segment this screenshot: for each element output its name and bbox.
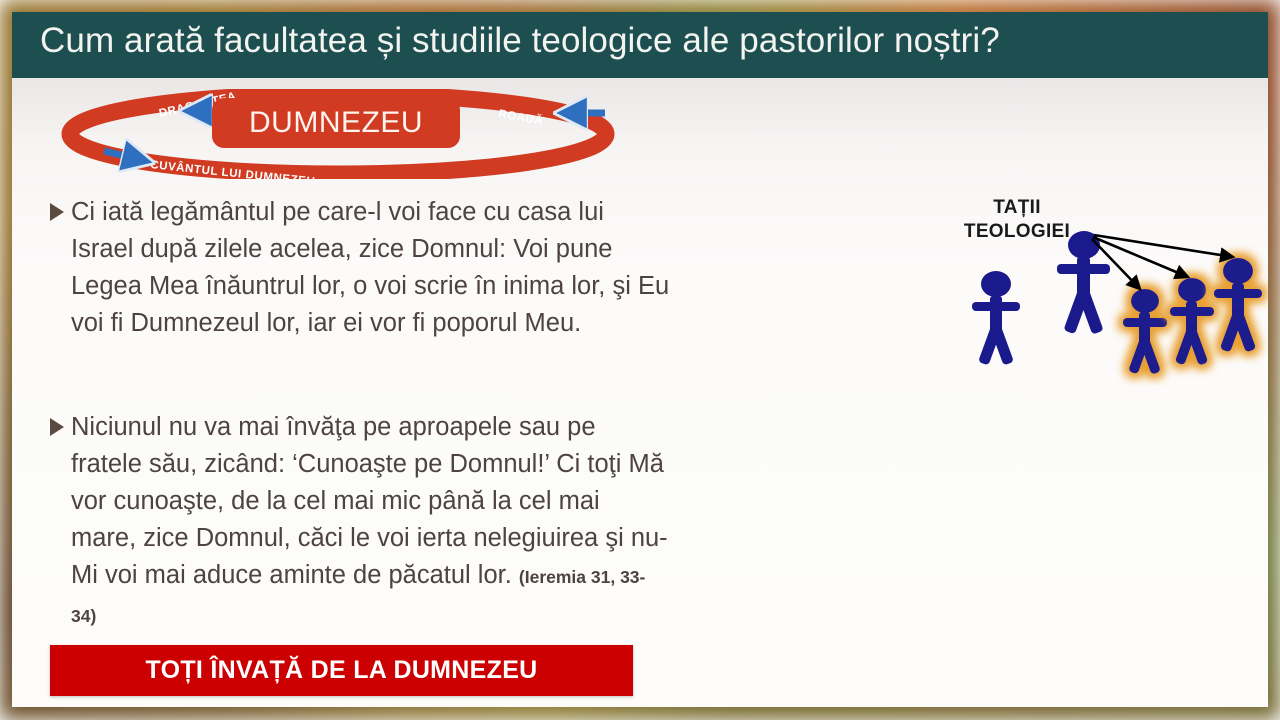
student-figure-1 bbox=[1123, 289, 1167, 375]
dumnezeu-center-label: DUMNEZEU bbox=[212, 98, 460, 148]
bullet-paragraph-1: Ci iată legământul pe care-l voi face cu… bbox=[50, 194, 670, 342]
slide-content: DRAGOSTEA ROADĂ CUVÂNTUL LUI DUMNEZEU DU… bbox=[12, 78, 1268, 707]
bullet-paragraph-2: Niciunul nu va mai învăţa pe aproapele s… bbox=[50, 409, 670, 635]
bullet-text-1: Ci iată legământul pe care-l voi face cu… bbox=[71, 194, 670, 342]
teaching-arrows bbox=[1092, 235, 1233, 289]
bullet-text-2: Niciunul nu va mai învăţa pe aproapele s… bbox=[71, 409, 670, 635]
theology-illustration: TAȚII TEOLOGIEI bbox=[912, 126, 1268, 386]
page-title: Cum arată facultatea și studiile teologi… bbox=[40, 21, 1000, 61]
stick-figures-svg bbox=[912, 126, 1268, 386]
bullet-text-2-body: Niciunul nu va mai învăţa pe aproapele s… bbox=[71, 413, 668, 589]
dumnezeu-cycle-diagram: DRAGOSTEA ROADĂ CUVÂNTUL LUI DUMNEZEU DU… bbox=[60, 89, 620, 179]
slide-header: Cum arată facultatea și studiile teologi… bbox=[12, 12, 1268, 78]
triangle-bullet-icon bbox=[50, 418, 64, 436]
summary-banner-text: TOȚI ÎNVAȚĂ DE LA DUMNEZEU bbox=[145, 656, 537, 685]
student-figure-2 bbox=[1170, 278, 1214, 366]
triangle-bullet-icon bbox=[50, 203, 64, 221]
summary-banner: TOȚI ÎNVAȚĂ DE LA DUMNEZEU bbox=[50, 645, 633, 696]
student-figure-3 bbox=[1214, 258, 1262, 352]
slide: Cum arată facultatea și studiile teologi… bbox=[12, 12, 1268, 707]
teacher-figure bbox=[1057, 231, 1110, 335]
lone-figure bbox=[972, 271, 1020, 366]
